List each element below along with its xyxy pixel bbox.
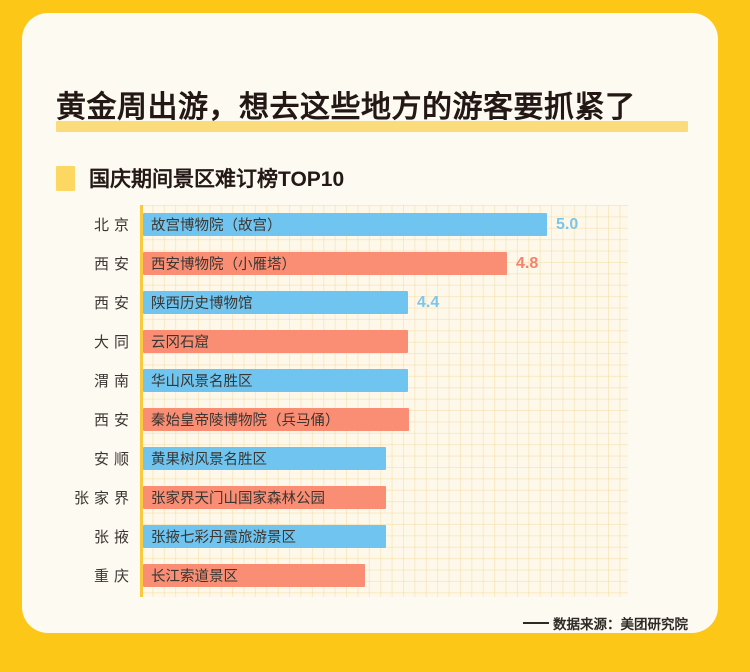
chart-row: 张掖张掖七彩丹霞旅游景区	[22, 517, 718, 556]
attraction-name-label: 云冈石窟	[151, 330, 209, 353]
attraction-name-label: 张家界天门山国家森林公园	[151, 486, 325, 509]
subtitle-block: 国庆期间景区难订榜TOP10	[56, 163, 344, 193]
attraction-name-label: 陕西历史博物馆	[151, 291, 253, 314]
bar: 华山风景名胜区	[143, 369, 408, 392]
city-label: 西安	[64, 400, 134, 439]
bar: 秦始皇帝陵博物院（兵马俑）	[143, 408, 409, 431]
chart-row: 西安西安博物院（小雁塔）4.8	[22, 244, 718, 283]
bar-rows-container: 北京故宫博物院（故宫）5.0西安西安博物院（小雁塔）4.8西安陕西历史博物馆4.…	[22, 205, 718, 597]
poster-frame: 黄金周出游，想去这些地方的游客要抓紧了 国庆期间景区难订榜TOP10 北京故宫博…	[0, 0, 750, 672]
bar-value-label: 5.0	[556, 213, 578, 236]
bar: 陕西历史博物馆	[143, 291, 408, 314]
city-label: 重庆	[64, 556, 134, 595]
chart-row: 渭南华山风景名胜区	[22, 361, 718, 400]
bar-value-label: 4.4	[417, 291, 439, 314]
data-source-text: 数据来源：美团研究院	[553, 613, 688, 633]
chart-subtitle: 国庆期间景区难订榜TOP10	[89, 163, 344, 193]
city-label: 大同	[64, 322, 134, 361]
city-label: 渭南	[64, 361, 134, 400]
city-label: 西安	[64, 244, 134, 283]
bar: 张掖七彩丹霞旅游景区	[143, 525, 386, 548]
city-label: 张家界	[64, 478, 134, 517]
city-label: 安顺	[64, 439, 134, 478]
content-card: 黄金周出游，想去这些地方的游客要抓紧了 国庆期间景区难订榜TOP10 北京故宫博…	[22, 13, 718, 633]
square-bullet-icon	[56, 166, 75, 191]
page-title: 黄金周出游，想去这些地方的游客要抓紧了	[56, 86, 636, 130]
attraction-name-label: 张掖七彩丹霞旅游景区	[151, 525, 296, 548]
attraction-name-label: 秦始皇帝陵博物院（兵马俑）	[151, 408, 340, 431]
bar: 云冈石窟	[143, 330, 408, 353]
title-block: 黄金周出游，想去这些地方的游客要抓紧了	[56, 86, 696, 134]
chart-row: 北京故宫博物院（故宫）5.0	[22, 205, 718, 244]
bar-value-label: 4.8	[516, 252, 538, 275]
bar: 故宫博物院（故宫）	[143, 213, 547, 236]
city-label: 西安	[64, 283, 134, 322]
bar: 长江索道景区	[143, 564, 365, 587]
attraction-name-label: 长江索道景区	[151, 564, 238, 587]
bar: 西安博物院（小雁塔）	[143, 252, 507, 275]
chart-row: 张家界张家界天门山国家森林公园	[22, 478, 718, 517]
attraction-name-label: 故宫博物院（故宫）	[151, 213, 282, 236]
bar: 张家界天门山国家森林公园	[143, 486, 386, 509]
attraction-name-label: 黄果树风景名胜区	[151, 447, 267, 470]
bar: 黄果树风景名胜区	[143, 447, 386, 470]
chart-row: 西安陕西历史博物馆4.4	[22, 283, 718, 322]
attraction-name-label: 华山风景名胜区	[151, 369, 253, 392]
attraction-name-label: 西安博物院（小雁塔）	[151, 252, 296, 275]
dash-icon	[523, 622, 549, 624]
data-source-note: 数据来源：美团研究院	[523, 613, 688, 633]
city-label: 北京	[64, 205, 134, 244]
chart-row: 西安秦始皇帝陵博物院（兵马俑）	[22, 400, 718, 439]
chart-row: 大同云冈石窟	[22, 322, 718, 361]
city-label: 张掖	[64, 517, 134, 556]
chart-row: 安顺黄果树风景名胜区	[22, 439, 718, 478]
chart-row: 重庆长江索道景区	[22, 556, 718, 595]
